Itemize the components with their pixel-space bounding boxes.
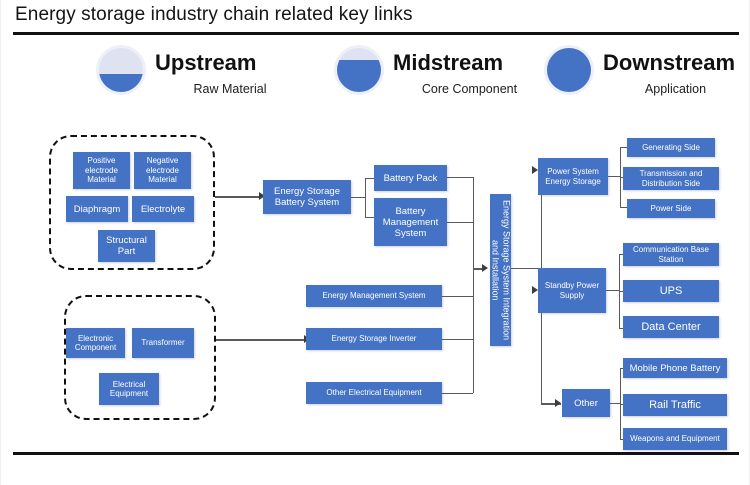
box-electrolyte[interactable]: Electrolyte bbox=[132, 196, 194, 222]
legend-item-downstream: Downstream Application bbox=[547, 44, 747, 102]
connector-integration-out bbox=[511, 268, 541, 269]
connector-other-electrical-out bbox=[442, 393, 473, 394]
connector-power-stem bbox=[608, 176, 620, 177]
box-diaphragm[interactable]: Diaphragm bbox=[66, 196, 128, 222]
upstream-circle-icon bbox=[99, 48, 143, 92]
box-energy-storage-battery-system[interactable]: Energy Storage Battery System bbox=[263, 180, 351, 214]
title-divider bbox=[13, 32, 739, 35]
box-energy-storage-system-integration[interactable]: Energy Storage System Integration and In… bbox=[490, 194, 511, 346]
box-power-system-energy-storage[interactable]: Power System Energy Storage bbox=[538, 158, 608, 195]
connector-pack-out bbox=[447, 177, 473, 178]
legend-subtitle-upstream: Raw Material bbox=[155, 82, 305, 96]
box-energy-storage-inverter[interactable]: Energy Storage Inverter bbox=[306, 328, 442, 350]
box-mobile-phone-battery[interactable]: Mobile Phone Battery bbox=[623, 358, 727, 378]
box-generating-side[interactable]: Generating Side bbox=[627, 138, 715, 157]
diagram-canvas: Energy storage industry chain related ke… bbox=[0, 0, 750, 485]
legend-subtitle-midstream: Core Component bbox=[387, 82, 552, 96]
midstream-circle-icon bbox=[337, 48, 381, 92]
connector-inverter-out bbox=[442, 339, 473, 340]
box-transmission-distribution-side[interactable]: Transmission and Distribution Side bbox=[623, 167, 719, 190]
connector-bms-out bbox=[447, 222, 473, 223]
connector-standby-stem bbox=[606, 290, 619, 291]
connector-battery-spine bbox=[365, 178, 366, 217]
box-data-center[interactable]: Data Center bbox=[623, 316, 719, 338]
box-structural-part[interactable]: Structural Part bbox=[98, 230, 155, 262]
midstream-circle-fill bbox=[337, 60, 381, 92]
legend-item-upstream: Upstream Raw Material bbox=[99, 44, 309, 102]
connector-midstream-spine bbox=[473, 177, 474, 393]
box-transformer[interactable]: Transformer bbox=[132, 328, 194, 358]
box-negative-electrode-material[interactable]: Negative electrode Material bbox=[134, 152, 191, 189]
legend-title-upstream: Upstream bbox=[155, 50, 256, 76]
downstream-circle-fill bbox=[547, 48, 591, 92]
box-battery-pack[interactable]: Battery Pack bbox=[374, 165, 447, 191]
box-standby-power-supply[interactable]: Standby Power Supply bbox=[538, 268, 606, 313]
legend-subtitle-downstream: Application bbox=[603, 82, 748, 96]
box-power-side[interactable]: Power Side bbox=[627, 199, 715, 218]
connector-battery-stem bbox=[351, 197, 365, 198]
bottom-divider bbox=[13, 452, 739, 455]
upstream-circle-fill bbox=[99, 74, 143, 92]
box-energy-management-system[interactable]: Energy Management System bbox=[306, 285, 442, 307]
downstream-circle-icon bbox=[547, 48, 591, 92]
box-positive-electrode-material[interactable]: Positive electrode Material bbox=[73, 152, 130, 189]
connector-materials-to-battery bbox=[215, 196, 261, 198]
box-electronic-component[interactable]: Electronic Component bbox=[66, 328, 125, 358]
page-title: Energy storage industry chain related ke… bbox=[15, 4, 413, 26]
arrowhead-spine-to-integration bbox=[482, 264, 488, 272]
box-communication-base-station[interactable]: Communication Base Station bbox=[623, 243, 719, 266]
legend-title-downstream: Downstream bbox=[603, 50, 735, 76]
box-rail-traffic[interactable]: Rail Traffic bbox=[623, 394, 727, 416]
box-ups[interactable]: UPS bbox=[623, 280, 719, 302]
connector-other-stem bbox=[610, 403, 620, 404]
arrowhead-to-other bbox=[555, 399, 561, 407]
legend-item-midstream: Midstream Core Component bbox=[337, 44, 552, 102]
box-other-electrical-equipment[interactable]: Other Electrical Equipment bbox=[306, 382, 442, 404]
connector-ems-out bbox=[442, 296, 473, 297]
box-battery-management-system[interactable]: Battery Management System bbox=[374, 198, 447, 246]
connector-components-to-inverter bbox=[216, 339, 306, 341]
box-weapons-and-equipment[interactable]: Weapons and Equipment bbox=[623, 428, 727, 450]
box-electrical-equipment[interactable]: Electrical Equipment bbox=[99, 373, 159, 405]
legend-title-midstream: Midstream bbox=[393, 50, 503, 76]
box-other[interactable]: Other bbox=[562, 389, 610, 417]
